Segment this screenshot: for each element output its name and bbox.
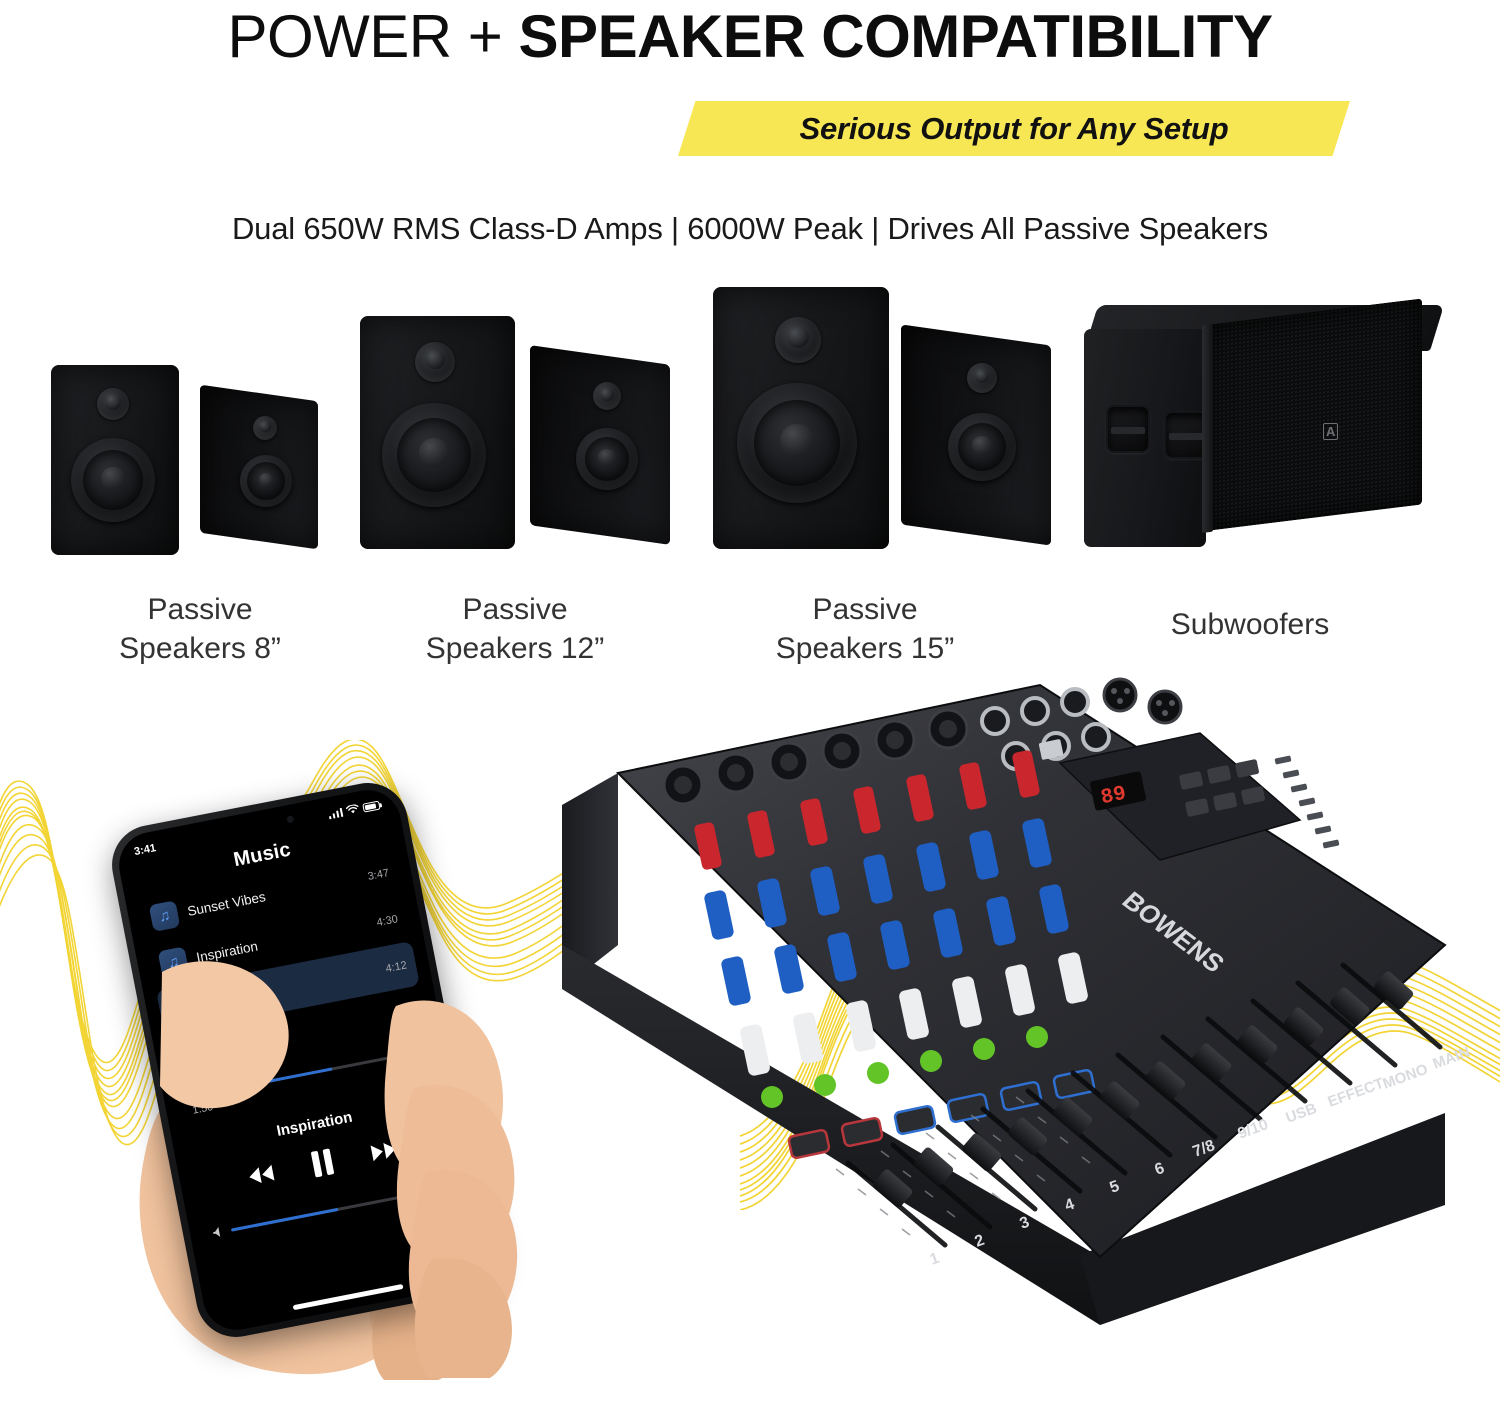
speaker-group-label-8in: Passive Speakers 8” xyxy=(50,590,350,668)
front-woofer-12in xyxy=(382,403,486,507)
title-light-part: POWER + xyxy=(227,3,518,70)
speaker-group-8in xyxy=(40,360,340,575)
title-bold-part: SPEAKER COMPATIBILITY xyxy=(519,3,1273,70)
rear-woofer-15in xyxy=(948,413,1016,481)
mixer-bus-label-usb: USB xyxy=(1284,1100,1320,1127)
front-tweeter-15in xyxy=(775,317,821,363)
front-woofer-cap-12in xyxy=(419,438,448,467)
speaker-group-15in xyxy=(705,283,1055,575)
mixer-console: 89 BOWENS xyxy=(540,645,1500,1365)
music-note-icon: ♫ xyxy=(176,1039,208,1071)
rear-woofer-12in xyxy=(576,428,638,490)
mixer-bus-label-main: MAIN xyxy=(1431,1044,1473,1073)
wifi-icon xyxy=(345,804,360,816)
cellular-signal-icon xyxy=(327,807,343,819)
elapsed-time: 1.56 xyxy=(192,1101,214,1117)
rear-tweeter-15in xyxy=(967,363,997,393)
track-duration: 4:12 xyxy=(385,959,408,975)
volume-high-icon xyxy=(435,1181,451,1195)
volume-bar[interactable] xyxy=(231,1190,430,1231)
mixer-led-meter xyxy=(1275,755,1340,848)
volume-low-icon xyxy=(211,1225,225,1239)
rear-woofer-cap-12in xyxy=(598,449,615,466)
subwoofer-handle-left xyxy=(1106,405,1150,453)
product-infographic: POWER + SPEAKER COMPATIBILITY Serious Ou… xyxy=(0,0,1500,1414)
volume-fill xyxy=(231,1207,339,1231)
mixer-output-xlr xyxy=(1104,679,1181,723)
status-time: 3:41 xyxy=(133,842,157,858)
subwoofer-grille xyxy=(1206,298,1422,531)
mixer-channel-label-1: 1 xyxy=(928,1250,942,1269)
track-duration: 5:06 xyxy=(394,1005,417,1021)
spec-subtitle: Dual 650W RMS Class-D Amps | 6000W Peak … xyxy=(0,211,1500,247)
tagline-banner: Serious Output for Any Setup xyxy=(678,101,1350,156)
front-tweeter-12in xyxy=(415,342,455,382)
subwoofer-group: A xyxy=(1070,305,1430,570)
track-duration: 3:47 xyxy=(367,867,390,883)
music-note-icon: ♫ xyxy=(158,946,190,978)
speaker-group-12in xyxy=(350,310,680,575)
mixer-bus-label-effect: EFFECT xyxy=(1326,1075,1387,1111)
mixer-bus-label-mono: MONO xyxy=(1381,1061,1431,1093)
subwoofer-group-label: Subwoofers xyxy=(1100,605,1400,644)
track-list: ♫ Sunset Vibes 3:47 ♫ Inspiration 4:30 ♫… xyxy=(138,849,429,1083)
rear-woofer-8in xyxy=(240,455,292,507)
smartphone: 3:41 Music ♫ Sunse xyxy=(105,776,499,1344)
battery-icon xyxy=(362,800,380,812)
page-title: POWER + SPEAKER COMPATIBILITY xyxy=(0,2,1500,72)
rear-tweeter-12in xyxy=(593,382,621,410)
pause-icon[interactable] xyxy=(310,1148,334,1177)
front-woofer-8in xyxy=(71,438,155,522)
phone-body: 3:41 Music ♫ Sunse xyxy=(105,776,499,1344)
track-duration: 4:30 xyxy=(376,913,399,929)
home-indicator[interactable] xyxy=(293,1284,404,1310)
music-note-icon: ♫ xyxy=(167,993,199,1025)
front-woofer-cap-8in xyxy=(101,467,125,491)
fast-forward-icon[interactable] xyxy=(367,1138,400,1163)
music-note-icon: ♫ xyxy=(149,900,181,932)
rear-tweeter-8in xyxy=(253,416,277,440)
front-tweeter-8in xyxy=(97,388,129,420)
rear-woofer-cap-15in xyxy=(972,436,991,455)
subwoofer-logo: A xyxy=(1323,423,1338,440)
subwoofer-grille-edge xyxy=(1202,324,1213,533)
phone-screen: 3:41 Music ♫ Sunse xyxy=(113,784,490,1335)
rewind-icon[interactable] xyxy=(244,1162,277,1187)
front-woofer-15in xyxy=(737,383,857,503)
banner-text: Serious Output for Any Setup xyxy=(678,101,1350,156)
total-time: 5:06 xyxy=(401,1060,423,1076)
front-woofer-cap-15in xyxy=(780,424,814,458)
